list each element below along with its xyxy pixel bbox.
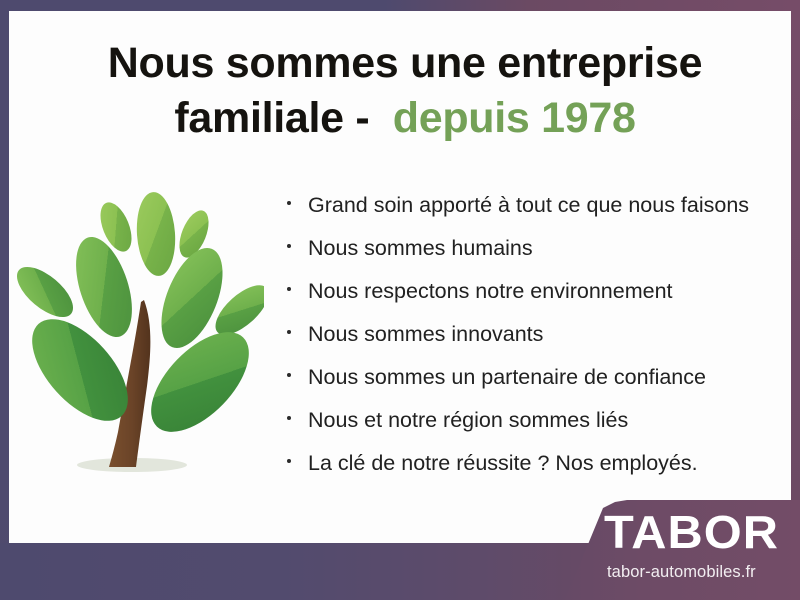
list-item-label: Nous sommes humains [308,236,533,260]
list-item: Nous et notre région sommes liés [286,407,749,450]
list-item: Nous sommes humains [286,235,749,278]
list-item-label: Nous respectons notre environnement [308,279,673,303]
headline-accent-part: depuis 1978 [393,94,636,142]
leaf [14,258,81,326]
list-item: Grand soin apporté à tout ce que nous fa… [286,192,749,235]
tree-illustration [14,182,264,482]
page-title: Nous sommes une entreprise familiale - d… [60,36,750,146]
bullet-dot-icon [287,287,291,291]
bullet-dot-icon [287,244,291,248]
list-item: Nous sommes un partenaire de confiance [286,364,749,407]
list-item: Nous sommes innovants [286,321,749,364]
bullet-dot-icon [287,416,291,420]
tree-icon [14,182,264,482]
list-item: La clé de notre réussite ? Nos employés. [286,450,749,493]
headline-line-2: familiale - depuis 1978 [60,91,750,146]
headline-plain-part: familiale - [174,94,369,142]
list-item: Nous respectons notre environnement [286,278,749,321]
bullet-dot-icon [287,459,291,463]
slide-canvas: Nous sommes une entreprise familiale - d… [0,0,800,600]
list-item-label: La clé de notre réussite ? Nos employés. [308,451,698,475]
brand-wordmark: TABOR [604,509,779,555]
list-item-label: Grand soin apporté à tout ce que nous fa… [308,193,749,217]
frame-top-border [0,0,800,11]
list-item-label: Nous sommes innovants [308,322,543,346]
bullet-dot-icon [287,373,291,377]
frame-left-border [0,0,9,600]
headline-line-1: Nous sommes une entreprise [60,36,750,91]
leaf [134,191,178,277]
list-item-label: Nous sommes un partenaire de confiance [308,365,706,389]
bullet-dot-icon [287,201,291,205]
brand-website-url: tabor-automobiles.fr [607,563,756,581]
benefits-list: Grand soin apporté à tout ce que nous fa… [286,192,749,493]
list-item-label: Nous et notre région sommes liés [308,408,628,432]
bullet-dot-icon [287,330,291,334]
leaf [134,315,264,449]
